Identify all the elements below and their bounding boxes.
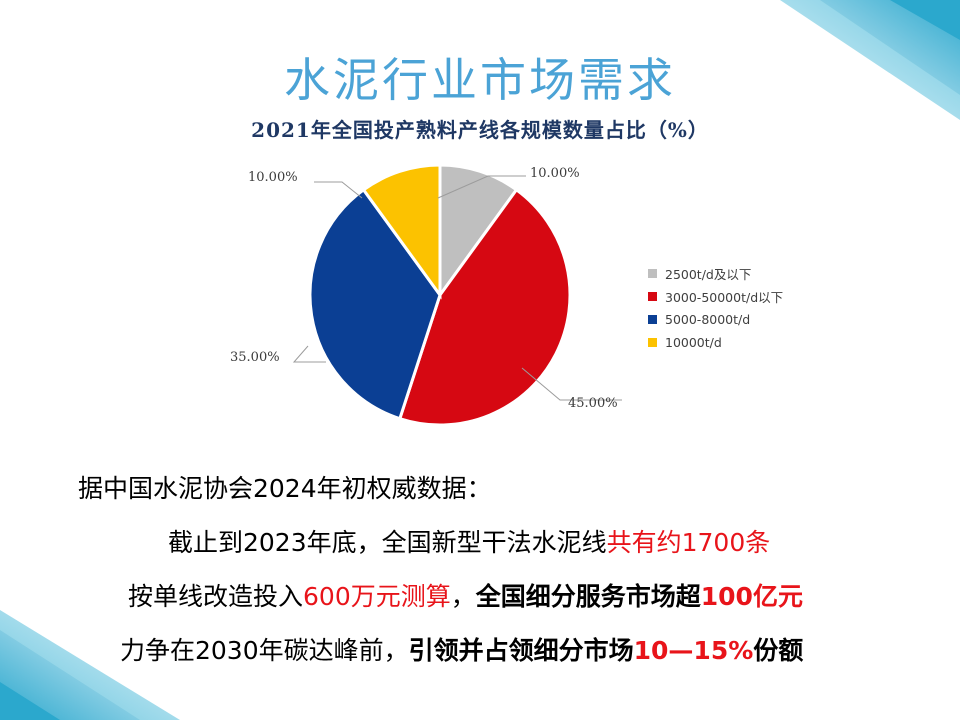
body-line-1-segment-0: 截止到2023年底，全国新型干法水泥线 bbox=[168, 528, 607, 557]
body-text-block: 据中国水泥协会2024年初权威数据： 截止到2023年底，全国新型干法水泥线共有… bbox=[0, 462, 960, 678]
body-line-2-segment-0: 按单线改造投入 bbox=[128, 582, 303, 611]
legend-label-3: 10000t/d bbox=[665, 335, 722, 350]
body-line-1: 截止到2023年底，全国新型干法水泥线共有约1700条 bbox=[0, 516, 960, 570]
legend-label-0: 2500t/d及以下 bbox=[665, 264, 751, 283]
pie-data-label-3: 10.00% bbox=[248, 170, 298, 185]
body-line-3-segment-0: 力争在2030年碳达峰前， bbox=[120, 636, 409, 665]
legend-item-3[interactable]: 10000t/d bbox=[648, 335, 848, 349]
body-line-2-segment-4: 100亿元 bbox=[701, 582, 803, 611]
body-line-2-segment-3: 全国细分服务市场超 bbox=[476, 582, 701, 611]
body-line-2-segment-2: ， bbox=[451, 582, 476, 611]
body-line-1-segment-1: 共有约1700条 bbox=[607, 528, 771, 557]
legend-swatch-icon-0 bbox=[648, 269, 657, 278]
pie-data-label-1: 45.00% bbox=[568, 396, 618, 411]
body-line-0-segment-0: 据中国水泥协会2024年初权威数据： bbox=[78, 474, 492, 503]
chart-legend: 2500t/d及以下 3000-50000t/d以下 5000-8000t/d … bbox=[648, 266, 848, 358]
pie-data-label-2: 35.00% bbox=[230, 350, 280, 365]
slide-title: 水泥行业市场需求 bbox=[0, 56, 960, 104]
body-line-2-segment-1: 600万元测算 bbox=[303, 582, 451, 611]
legend-item-1[interactable]: 3000-50000t/d以下 bbox=[648, 289, 848, 303]
body-line-3-segment-2: 10—15% bbox=[634, 636, 754, 665]
legend-label-2: 5000-8000t/d bbox=[665, 312, 750, 327]
legend-label-1: 3000-50000t/d以下 bbox=[665, 287, 783, 306]
legend-swatch-icon-2 bbox=[648, 315, 657, 324]
body-line-2: 按单线改造投入600万元测算，全国细分服务市场超100亿元 bbox=[0, 570, 960, 624]
presentation-slide: 水泥行业市场需求 2021年全国投产熟料产线各规模数量占比（%） 10.00% … bbox=[0, 0, 960, 720]
chart-subtitle: 2021年全国投产熟料产线各规模数量占比（%） bbox=[0, 114, 960, 143]
body-line-3: 力争在2030年碳达峰前，引领并占领细分市场10—15%份额 bbox=[0, 624, 960, 678]
legend-swatch-icon-1 bbox=[648, 292, 657, 301]
legend-item-0[interactable]: 2500t/d及以下 bbox=[648, 266, 848, 280]
pie-data-label-0: 10.00% bbox=[530, 166, 580, 181]
body-line-3-segment-1: 引领并占领细分市场 bbox=[409, 636, 634, 665]
pie-chart: 10.00% 45.00% 35.00% 10.00% 2500t/d及以下 3… bbox=[230, 150, 850, 440]
legend-item-2[interactable]: 5000-8000t/d bbox=[648, 312, 848, 326]
body-line-3-segment-3: 份额 bbox=[753, 636, 803, 665]
body-line-0: 据中国水泥协会2024年初权威数据： bbox=[0, 462, 960, 516]
legend-swatch-icon-3 bbox=[648, 338, 657, 347]
